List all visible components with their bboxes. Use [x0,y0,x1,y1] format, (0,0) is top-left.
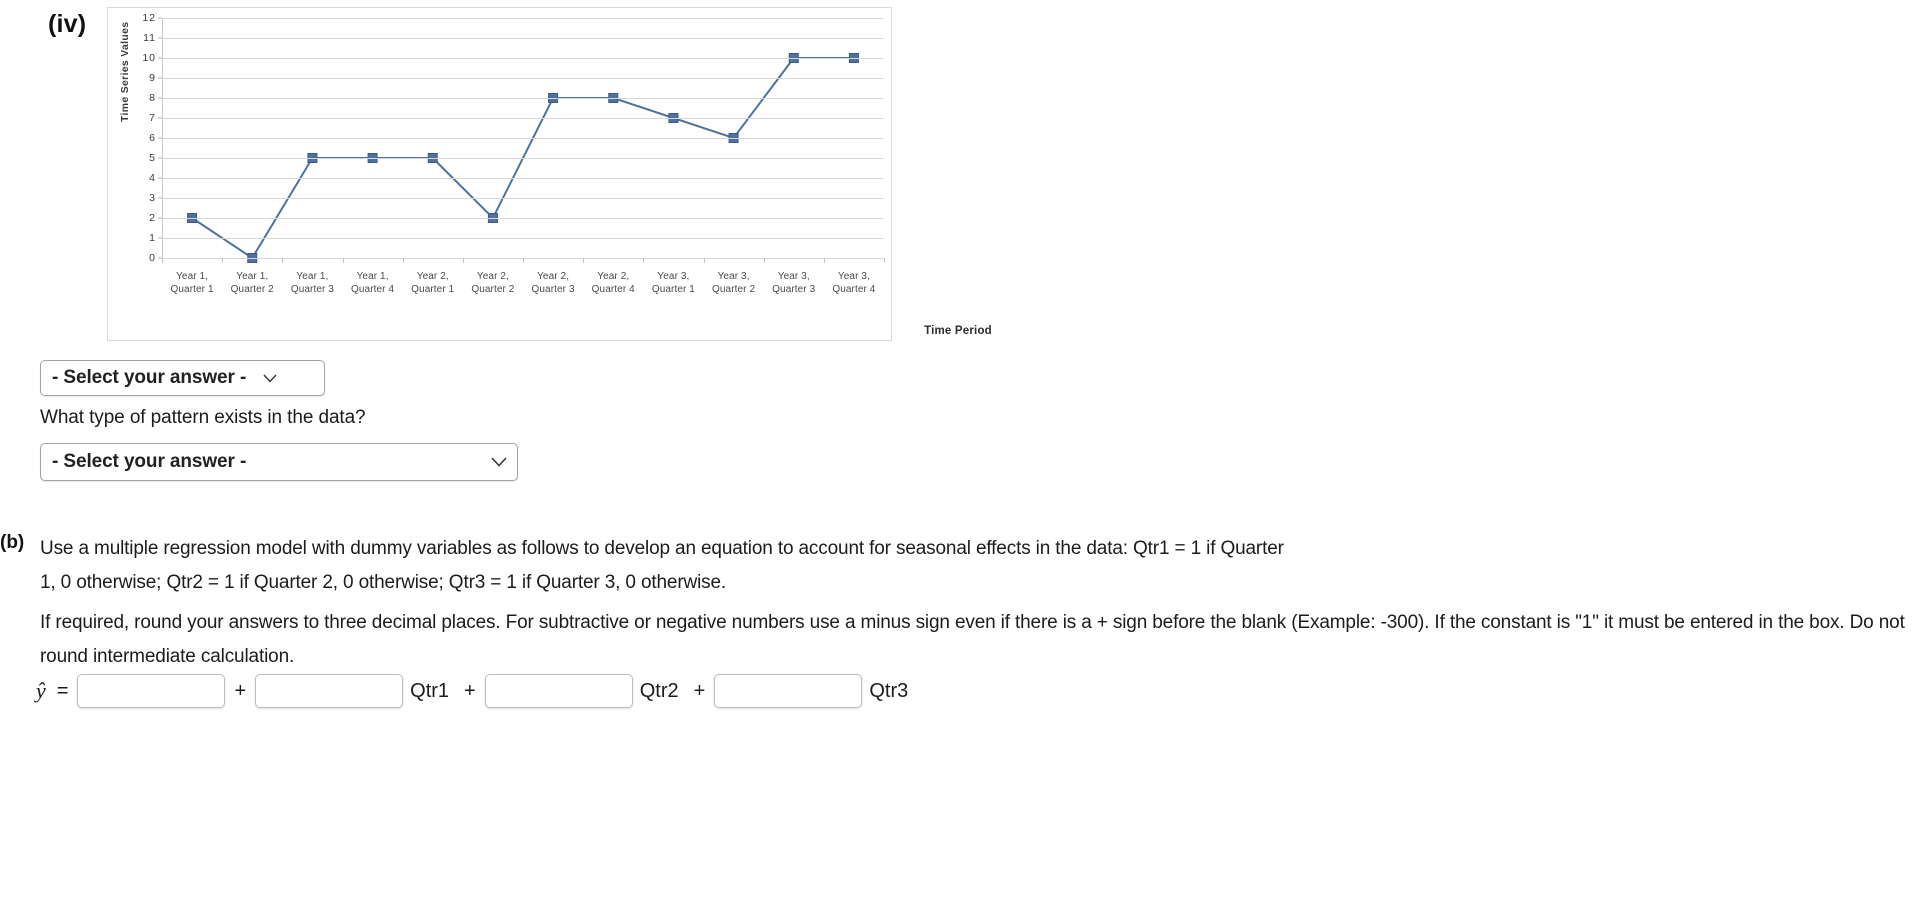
chart-gridline [162,238,884,239]
chart-x-tick-mark [222,258,223,263]
chart-y-tick-label: 10 [142,52,156,64]
chart-y-tick-mark [158,138,162,139]
chart-y-tick-mark [158,238,162,239]
chart-y-tick-mark [158,18,162,19]
select-2-value: - Select your answer - [52,451,246,473]
chart-y-tick-label: 12 [142,12,156,24]
chart-gridline [162,198,884,199]
chart-x-tick-mark [583,258,584,263]
qtr3-label: Qtr3 [862,680,914,703]
constant-input[interactable] [77,674,225,708]
chart-y-tick-label: 7 [149,112,156,124]
chart-y-axis-label: Time Series Values [119,108,131,122]
part-b-paragraph-2: If required, round your answers to three… [40,606,1916,674]
chart-y-tick-mark [158,78,162,79]
plus-sign-2: + [455,680,485,703]
chevron-down-icon [481,455,507,470]
chart-gridline [162,18,884,19]
select-answer-dropdown-2[interactable]: - Select your answer - [40,443,518,481]
qtr3-coefficient-input[interactable] [714,674,862,708]
chevron-down-icon [253,371,277,386]
chart-y-tick-label: 11 [143,32,156,44]
chart-x-tick-mark [162,258,163,263]
chart-x-tick-mark [884,258,885,263]
chart-y-tick-mark [158,218,162,219]
chart-gridline [162,178,884,179]
part-label-b: (b) [0,532,24,554]
chart-gridline [162,118,884,119]
equals-sign: = [48,680,78,703]
chart-x-tick-mark [824,258,825,263]
chart-x-tick-mark [463,258,464,263]
qtr1-coefficient-input[interactable] [255,674,403,708]
part-b-paragraph-2-line-1: If required, round your answers to three… [40,612,1286,633]
chart-x-tick-label: Year 3,Quarter 4 [808,270,900,296]
chart-y-tick-label: 6 [149,132,156,144]
chart-x-tick-mark [764,258,765,263]
chart-gridline [162,58,884,59]
chart-x-tick-mark [282,258,283,263]
chart-x-tick-mark [643,258,644,263]
chart-gridline [162,78,884,79]
plus-sign-3: + [685,680,715,703]
select-answer-dropdown-1[interactable]: - Select your answer - [40,360,325,396]
chart-x-tick-mark [523,258,524,263]
pattern-question-text: What type of pattern exists in the data? [40,407,366,429]
qtr2-label: Qtr2 [633,680,685,703]
chart-y-tick-label: 5 [149,152,156,164]
part-b-paragraph-1-line-1: Use a multiple regression model with dum… [40,538,1284,559]
chart-y-tick-mark [158,58,162,59]
chart-y-tick-label: 8 [149,92,156,104]
chart-x-axis-label: Time Period [0,325,1916,337]
chart-y-tick-mark [158,118,162,119]
chart-y-tick-mark [158,198,162,199]
plus-sign-1: + [225,680,255,703]
chart-gridline [162,218,884,219]
chart-y-tick-label: 0 [149,252,156,264]
chart-y-tick-mark [158,38,162,39]
chart-y-tick-mark [158,178,162,179]
chart-x-tick-mark [343,258,344,263]
chart-y-tick-label: 4 [149,172,156,184]
chart-y-tick-label: 2 [149,212,156,224]
select-1-value: - Select your answer - [52,367,246,389]
chart-y-tick-label: 3 [149,192,156,204]
part-b-paragraph-1-line-2: 1, 0 otherwise; Qtr2 = 1 if Quarter 2, 0… [40,566,1916,600]
chart-y-tick-mark [158,158,162,159]
part-label-iv: (iv) [48,10,86,39]
chart-gridline [162,158,884,159]
chart-y-tick-mark [158,98,162,99]
qtr1-label: Qtr1 [403,680,455,703]
chart-gridline [162,138,884,139]
y-hat-symbol: ŷ [36,678,48,704]
chart-gridline [162,98,884,99]
chart-plot-area: 0123456789101112Year 1,Quarter 1Year 1,Q… [162,18,884,258]
chart-x-tick-mark [704,258,705,263]
qtr2-coefficient-input[interactable] [485,674,633,708]
page-root: (iv) Time Series Values 0123456789101112… [0,0,1916,912]
chart-y-tick-label: 9 [149,72,156,84]
chart-gridline [162,38,884,39]
chart-y-tick-label: 1 [149,232,156,244]
part-b-paragraph-1: Use a multiple regression model with dum… [40,532,1916,600]
chart-x-tick-mark [403,258,404,263]
regression-equation-row: ŷ = + Qtr1 + Qtr2 + Qtr3 [36,674,914,708]
